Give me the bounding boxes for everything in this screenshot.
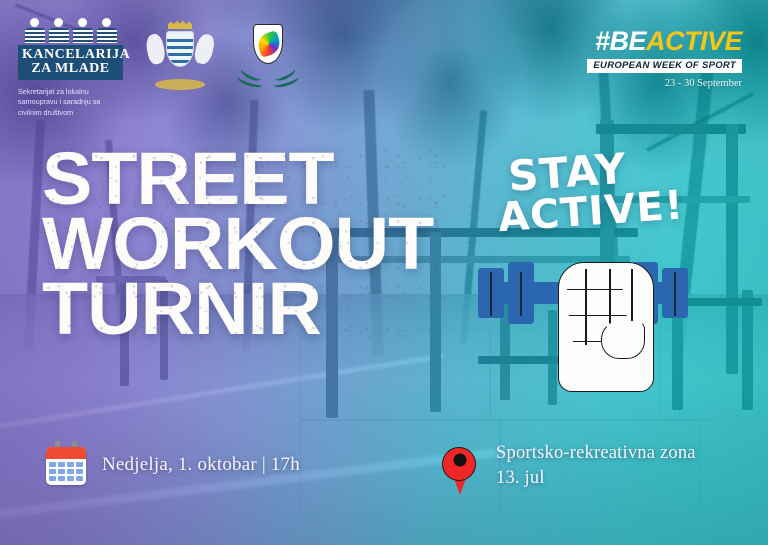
person-icon <box>25 18 45 43</box>
partner-logos: KANCELARIJA ZA MLADE Sekretarijat za lok… <box>18 18 299 118</box>
beactive-hash-be: #BE <box>595 26 646 56</box>
person-icon <box>49 18 69 43</box>
beactive-tagline: EUROPEAN WEEK OF SPORT <box>587 59 742 73</box>
map-pin-icon <box>440 447 480 499</box>
people-icons <box>18 18 123 43</box>
calendar-icon <box>46 445 86 485</box>
beactive-dates: 23 - 30 September <box>587 78 742 89</box>
slogan-line-2: ACTIVE! <box>497 188 679 236</box>
kzm-wordmark: KANCELARIJA ZA MLADE <box>18 45 123 80</box>
kzm-line-1: KANCELARIJA <box>22 48 119 62</box>
shield-icon <box>166 31 194 67</box>
event-date-block: Nedjelja, 1. oktobar | 17h <box>46 445 300 485</box>
event-poster: KANCELARIJA ZA MLADE Sekretarijat za lok… <box>0 0 768 545</box>
poster-content: KANCELARIJA ZA MLADE Sekretarijat za lok… <box>0 0 768 545</box>
crown-icon <box>168 20 192 29</box>
beactive-wordmark: #BEACTIVE <box>587 28 742 55</box>
lion-supporter-left <box>144 33 167 66</box>
title-line-3: TURNIR <box>42 276 470 341</box>
fist-icon <box>558 262 654 392</box>
beactive-badge: #BEACTIVE EUROPEAN WEEK OF SPORT 23 - 30… <box>587 28 742 89</box>
event-location-line-2: 13. jul <box>496 466 696 491</box>
event-date-text: Nedjelja, 1. oktobar | 17h <box>102 454 300 476</box>
kzm-line-2: ZA MLADE <box>22 62 119 76</box>
event-location-line-1: Sportsko-rekreativna zona <box>496 441 696 466</box>
ribbon-banner <box>155 79 205 90</box>
person-icon <box>97 18 117 43</box>
beactive-active: ACTIVE <box>646 26 742 56</box>
event-details: Nedjelja, 1. oktobar | 17h Sportsko-rekr… <box>0 441 768 511</box>
sports-association-emblem <box>237 22 299 88</box>
laurel-wreath-icon <box>237 60 299 86</box>
event-location-block: Sportsko-rekreativna zona 13. jul <box>440 441 696 499</box>
rainbow-swoosh-icon <box>255 30 283 58</box>
person-icon <box>73 18 93 43</box>
kancelarija-za-mlade-logo: KANCELARIJA ZA MLADE Sekretarijat za lok… <box>18 18 123 118</box>
page-title: STREET WORKOUT TURNIR <box>42 146 462 341</box>
kzm-subtitle: Sekretarijat za lokalnu samoupravu i sar… <box>18 87 123 118</box>
stay-active-graphic: STAY ACTIVE! <box>498 152 678 230</box>
coat-of-arms-logo <box>147 20 213 92</box>
emblem-shield-icon <box>253 24 283 64</box>
lion-supporter-right <box>193 33 216 66</box>
